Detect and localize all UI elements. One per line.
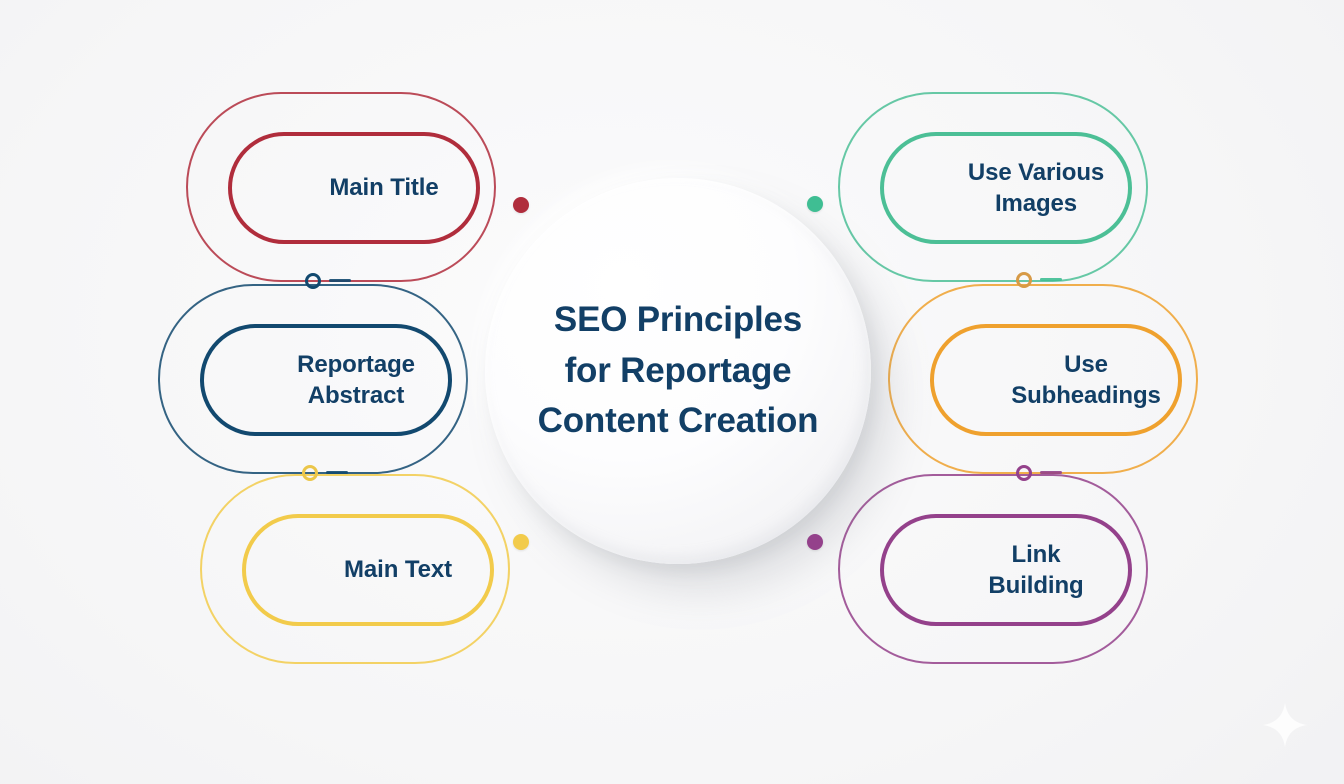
dot-item-1 [513, 197, 529, 213]
dot-item-3 [513, 534, 529, 550]
stub-4-5 [1040, 278, 1062, 281]
center-medallion[interactable]: SEO Principles for Reportage Content Cre… [485, 178, 871, 564]
infographic-canvas: 1 Main Title 2 Reportage Abstract 3 Main… [0, 0, 1344, 784]
infographic-item-5[interactable]: 5 Use Subheadings [888, 284, 1198, 474]
infographic-item-2[interactable]: 2 Reportage Abstract [158, 284, 468, 474]
ring-5-6 [1016, 465, 1032, 481]
center-title-line-1: SEO Principles [538, 295, 819, 345]
item-6-number: 6 [852, 480, 1002, 658]
sparkle-star-icon [1262, 702, 1308, 748]
stub-5-6 [1040, 471, 1062, 474]
item-1-number: 1 [200, 98, 350, 276]
infographic-item-1[interactable]: 1 Main Title [186, 92, 496, 282]
dot-item-6 [807, 534, 823, 550]
center-title-line-3: Content Creation [538, 396, 819, 446]
infographic-item-3[interactable]: 3 Main Text [200, 474, 510, 664]
center-title: SEO Principles for Reportage Content Cre… [512, 295, 845, 446]
center-title-line-2: for Reportage [538, 346, 819, 396]
item-3-number: 3 [214, 480, 364, 658]
item-4-number: 4 [852, 98, 1002, 276]
ring-2-3 [302, 465, 318, 481]
infographic-item-6[interactable]: 6 Link Building [838, 474, 1148, 664]
dot-item-4 [807, 196, 823, 212]
infographic-item-4[interactable]: 4 Use Various Images [838, 92, 1148, 282]
stub-2-3 [326, 471, 348, 474]
item-5-number: 5 [902, 290, 1052, 468]
ring-4-5 [1016, 272, 1032, 288]
item-2-number: 2 [172, 290, 322, 468]
ring-1-2 [305, 273, 321, 289]
stub-1-2 [329, 279, 351, 282]
